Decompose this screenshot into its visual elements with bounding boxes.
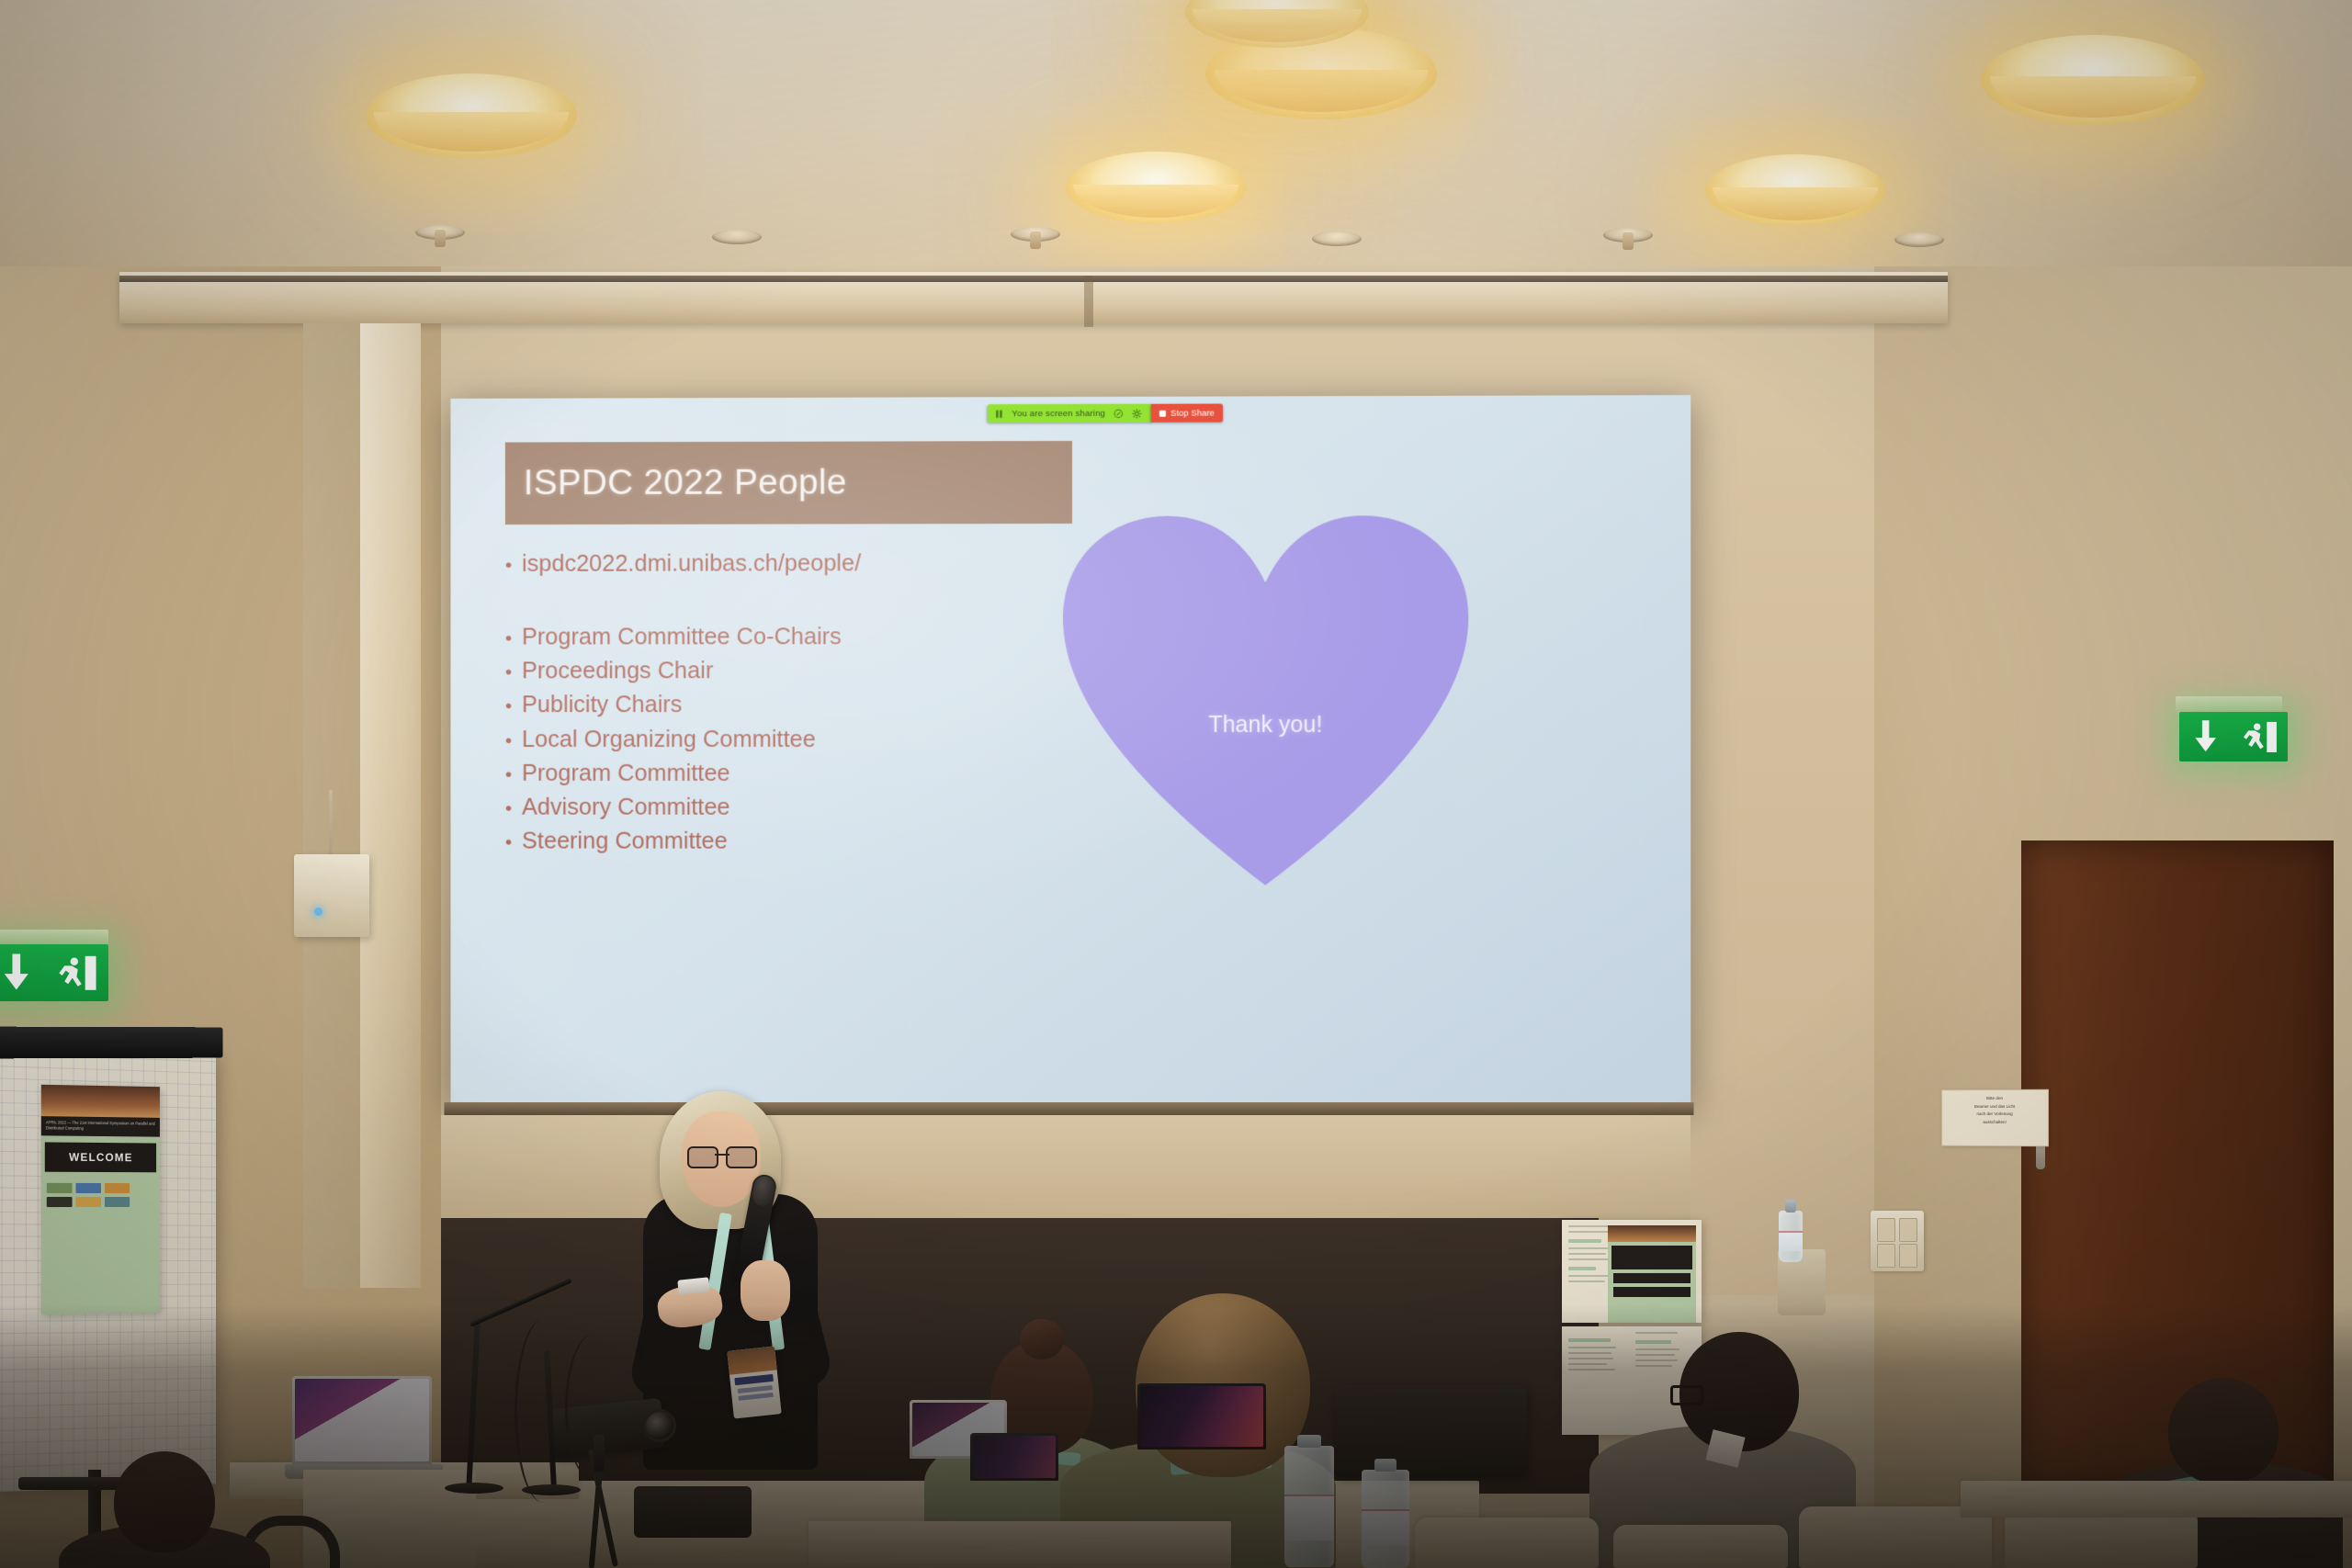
sponsor-logo-icon — [105, 1197, 130, 1207]
sponsor-logo-icon — [47, 1182, 73, 1192]
stop-share-button[interactable]: Stop Share — [1151, 404, 1223, 423]
lecture-hall-photo: You are screen sharing — [0, 0, 2352, 1568]
annotate-icon[interactable] — [1114, 408, 1124, 418]
thank-you-label: Thank you! — [1063, 712, 1468, 739]
audience-desk-left — [808, 1521, 1231, 1568]
bullet-dot-icon: • — [505, 697, 512, 716]
water-bottle — [1779, 1211, 1803, 1262]
ceiling-vent-5 — [1603, 228, 1653, 243]
speaker-mic-hand — [741, 1260, 790, 1321]
bullet-dot-icon: • — [505, 629, 512, 649]
bottle-cap — [1374, 1459, 1397, 1472]
ceiling-shadow-right — [1709, 0, 2352, 276]
ceiling-vent-4 — [1312, 231, 1362, 246]
projection-screen: You are screen sharing — [450, 395, 1690, 1106]
screen-share-status: You are screen sharing — [987, 404, 1151, 423]
bullet-dot-icon: • — [505, 556, 512, 575]
wall-board-strip — [441, 1115, 1690, 1222]
glasses-icon — [687, 1146, 757, 1165]
ceiling-vent-3 — [1011, 227, 1060, 242]
audience-seat-2 — [1613, 1525, 1788, 1568]
pause-icon[interactable] — [993, 409, 1003, 419]
audience-3-glasses-icon — [1670, 1385, 1703, 1405]
stop-square-icon — [1159, 410, 1166, 416]
badge-photo — [727, 1346, 776, 1374]
slide-bullet-item: • Steering Committee — [505, 826, 1146, 858]
bullet-dot-icon: • — [505, 765, 512, 784]
poster-subtitle-block — [1613, 1287, 1690, 1297]
bottle-cap — [1785, 1200, 1796, 1213]
laptop-screen[interactable] — [1137, 1383, 1266, 1450]
ceiling-vent-1 — [415, 225, 465, 240]
slide-bullet-label: Program Committee Co-Chairs — [522, 621, 842, 652]
running-person-exit-icon — [56, 953, 97, 994]
sponsor-logo-icon — [75, 1197, 101, 1207]
audience-desk-right — [1961, 1481, 2352, 1517]
down-arrow-icon — [2189, 719, 2222, 754]
glasses-lens-right — [726, 1146, 757, 1168]
poster-welcome-label: WELCOME — [45, 1142, 156, 1172]
slide-bullet-label: Program Committee — [522, 758, 729, 789]
glasses-bridge — [715, 1154, 729, 1156]
notice-line-3: nach der Vorlesung — [1946, 1111, 2044, 1119]
poster-text-lines — [1562, 1326, 1702, 1378]
presentation-slide: You are screen sharing — [450, 395, 1690, 1106]
poster-photo-strip — [1608, 1225, 1696, 1242]
laptop-display — [1140, 1386, 1263, 1447]
screen-bottom-rail — [445, 1102, 1694, 1115]
welcome-poster: APRIL 2022 — The 21st International Symp… — [41, 1085, 160, 1314]
bullet-dot-icon: • — [505, 833, 512, 852]
gear-icon[interactable] — [1132, 408, 1142, 418]
light-switch-panel[interactable] — [1871, 1211, 1924, 1271]
slide-title-bar: ISPDC 2022 People — [505, 441, 1072, 525]
ceiling-vent-2 — [712, 230, 762, 244]
stop-share-label: Stop Share — [1170, 408, 1215, 418]
audience-4-head — [114, 1451, 215, 1552]
slide-bullet-item: • Advisory Committee — [505, 792, 1146, 823]
badge-detail-bar — [738, 1393, 773, 1401]
switch-toggle-icon[interactable] — [1899, 1244, 1917, 1268]
poster-header-text: APRIL 2022 — The 21st International Symp… — [41, 1116, 160, 1136]
poster-sponsor-logos — [41, 1178, 160, 1211]
ceiling-light-3 — [1981, 35, 2205, 125]
glasses-lens-left — [687, 1146, 718, 1168]
bottle-label — [1779, 1231, 1803, 1251]
slide-bullet-item: • Program Committee Co-Chairs — [505, 621, 1146, 653]
cable — [514, 1319, 572, 1503]
microphone-stand-base — [445, 1483, 503, 1494]
sponsor-logo-icon — [105, 1183, 130, 1193]
equipment-case — [634, 1486, 752, 1538]
wall-pillar — [360, 323, 421, 1288]
notice-line-2: Beamer und das Licht — [1946, 1103, 2044, 1111]
ceiling-light-1 — [366, 73, 577, 158]
slide-bullet-list: • ispdc2022.dmi.unibas.ch/people/ • Prog… — [505, 547, 1146, 860]
audience-5-head — [2168, 1378, 2278, 1484]
ceiling-vent-6 — [1894, 232, 1944, 247]
heart-icon — [1063, 515, 1468, 893]
water-bottle-1[interactable] — [1284, 1446, 1334, 1567]
program-poster-upper — [1562, 1220, 1702, 1323]
down-arrow-icon — [0, 953, 34, 992]
slide-bullet-item: • Program Committee — [505, 758, 1146, 789]
bullet-dot-icon: • — [505, 663, 512, 682]
switch-toggle-icon[interactable] — [1877, 1244, 1895, 1268]
slide-bullet-label: Proceedings Chair — [522, 656, 713, 687]
audience-1-hair-bun — [1020, 1319, 1064, 1359]
slide-url-text: ispdc2022.dmi.unibas.ch/people/ — [522, 547, 861, 580]
screen-share-bar: You are screen sharing — [987, 404, 1222, 423]
water-bottle-2[interactable] — [1362, 1470, 1409, 1568]
running-person-exit-icon — [2241, 719, 2278, 755]
bullet-dot-icon: • — [505, 731, 512, 750]
sponsor-logo-icon — [75, 1183, 101, 1193]
lecture-hall-door[interactable] — [2021, 840, 2334, 1483]
poster-title-block — [1611, 1246, 1692, 1269]
laptop-screen[interactable] — [970, 1433, 1058, 1481]
speaker-badge — [727, 1346, 781, 1418]
sponsor-logo-icon — [47, 1197, 73, 1207]
bottle-label — [1362, 1509, 1409, 1547]
flipchart-clamp — [0, 1027, 223, 1059]
slide-bullet-url: • ispdc2022.dmi.unibas.ch/people/ — [505, 547, 1146, 580]
poster-subtitle-block — [1613, 1273, 1690, 1283]
cable — [565, 1334, 623, 1481]
audience-seat-1 — [1415, 1517, 1599, 1568]
exit-sign-left — [0, 944, 108, 1001]
poster-mini-welcome — [1608, 1225, 1696, 1323]
equipment-case-right — [1334, 1385, 1527, 1477]
ceiling-light-5 — [1705, 154, 1885, 226]
bottle-label — [1284, 1495, 1334, 1540]
soffit-rail — [119, 276, 1948, 282]
bottle-cap — [1297, 1435, 1321, 1448]
thank-you-heart: Thank you! — [1063, 515, 1468, 893]
badge-name-bar — [734, 1374, 774, 1385]
poster-photo-strip — [41, 1085, 160, 1118]
notice-line-1: Bitte den — [1946, 1095, 2044, 1103]
slide-bullet-item: • Local Organizing Committee — [505, 724, 1146, 755]
slide-bullet-label: Steering Committee — [522, 826, 728, 857]
slide-bullet-item: • Proceedings Chair — [505, 655, 1146, 687]
slide-bullet-label: Local Organizing Committee — [522, 724, 816, 755]
sensor-mount-rod — [329, 790, 333, 859]
laptop-display — [973, 1436, 1056, 1478]
switch-toggle-icon[interactable] — [1899, 1218, 1917, 1242]
notice-line-4: ausschalten! — [1946, 1119, 2044, 1127]
slide-title-text: ISPDC 2022 People — [505, 463, 847, 504]
switch-toggle-icon[interactable] — [1877, 1218, 1895, 1242]
screen-share-status-label: You are screen sharing — [1012, 408, 1105, 418]
exit-sign-right — [2179, 712, 2288, 761]
slide-bullet-label: Publicity Chairs — [522, 690, 682, 721]
laptop-display — [295, 1379, 429, 1461]
motion-sensor-box — [294, 854, 369, 937]
sensor-led-icon — [314, 908, 322, 916]
laptop-screen[interactable] — [292, 1376, 432, 1464]
slide-bullet-label: Advisory Committee — [522, 792, 729, 823]
ceiling-light-4 — [1066, 152, 1246, 223]
door-notice-sign: Bitte den Beamer und das Licht nach der … — [1941, 1089, 2049, 1147]
soffit-seam — [1084, 276, 1093, 327]
bullet-dot-icon: • — [505, 799, 512, 818]
slide-bullet-item: • Publicity Chairs — [505, 689, 1146, 720]
